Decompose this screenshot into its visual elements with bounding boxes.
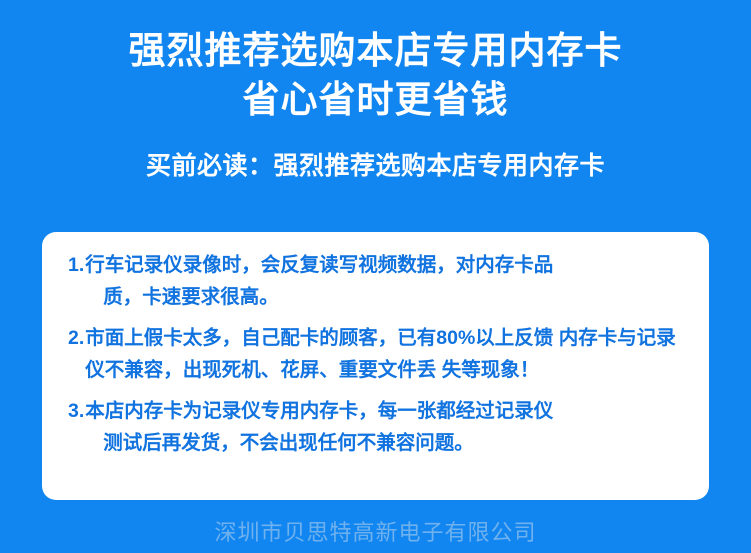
company-watermark: 深圳市贝思特高新电子有限公司 <box>0 515 751 547</box>
list-item-number: 1. <box>68 250 85 282</box>
list-item-line: 测试后再发货，不会出现任何不兼容问题。 <box>85 428 683 460</box>
promo-poster: 强烈推荐选购本店专用内存卡 省心省时更省钱 买前必读：强烈推荐选购本店专用内存卡… <box>0 0 751 553</box>
subheading: 买前必读：强烈推荐选购本店专用内存卡 <box>0 146 751 182</box>
list-item-text: 本店内存卡为记录仪专用内存卡，每一张都经过记录仪 测试后再发货，不会出现任何不兼… <box>85 396 683 459</box>
list-item-text: 行车记录仪录像时，会反复读写视频数据，对内存卡品 质，卡速要求很高。 <box>85 250 683 313</box>
list-item-line: 质，卡速要求很高。 <box>85 282 683 314</box>
page-title: 强烈推荐选购本店专用内存卡 省心省时更省钱 <box>0 0 751 124</box>
headline-line-1: 强烈推荐选购本店专用内存卡 <box>129 30 623 71</box>
list-item-line: 失等现象！ <box>442 359 540 381</box>
list-item: 2. 市面上假卡太多，自己配卡的顾客，已有80%以上反馈 内存卡与记录仪不兼容，… <box>68 323 683 386</box>
list-item-line: 行车记录仪录像时，会反复读写视频数据，对内存卡品 <box>85 254 553 276</box>
list-item-number: 3. <box>68 396 85 428</box>
list-item-line: 本店内存卡为记录仪专用内存卡，每一张都经过记录仪 <box>85 400 553 422</box>
list-item: 1. 行车记录仪录像时，会反复读写视频数据，对内存卡品 质，卡速要求很高。 <box>68 250 683 313</box>
notes-card: 1. 行车记录仪录像时，会反复读写视频数据，对内存卡品 质，卡速要求很高。 2.… <box>42 232 709 500</box>
list-item-text: 市面上假卡太多，自己配卡的顾客，已有80%以上反馈 内存卡与记录仪不兼容，出现死… <box>85 323 683 386</box>
headline-line-2: 省心省时更省钱 <box>0 75 751 124</box>
list-item: 3. 本店内存卡为记录仪专用内存卡，每一张都经过记录仪 测试后再发货，不会出现任… <box>68 396 683 459</box>
list-item-line: 市面上假卡太多，自己配卡的顾客，已有80%以上反馈 <box>85 327 553 349</box>
list-item-number: 2. <box>68 323 85 355</box>
